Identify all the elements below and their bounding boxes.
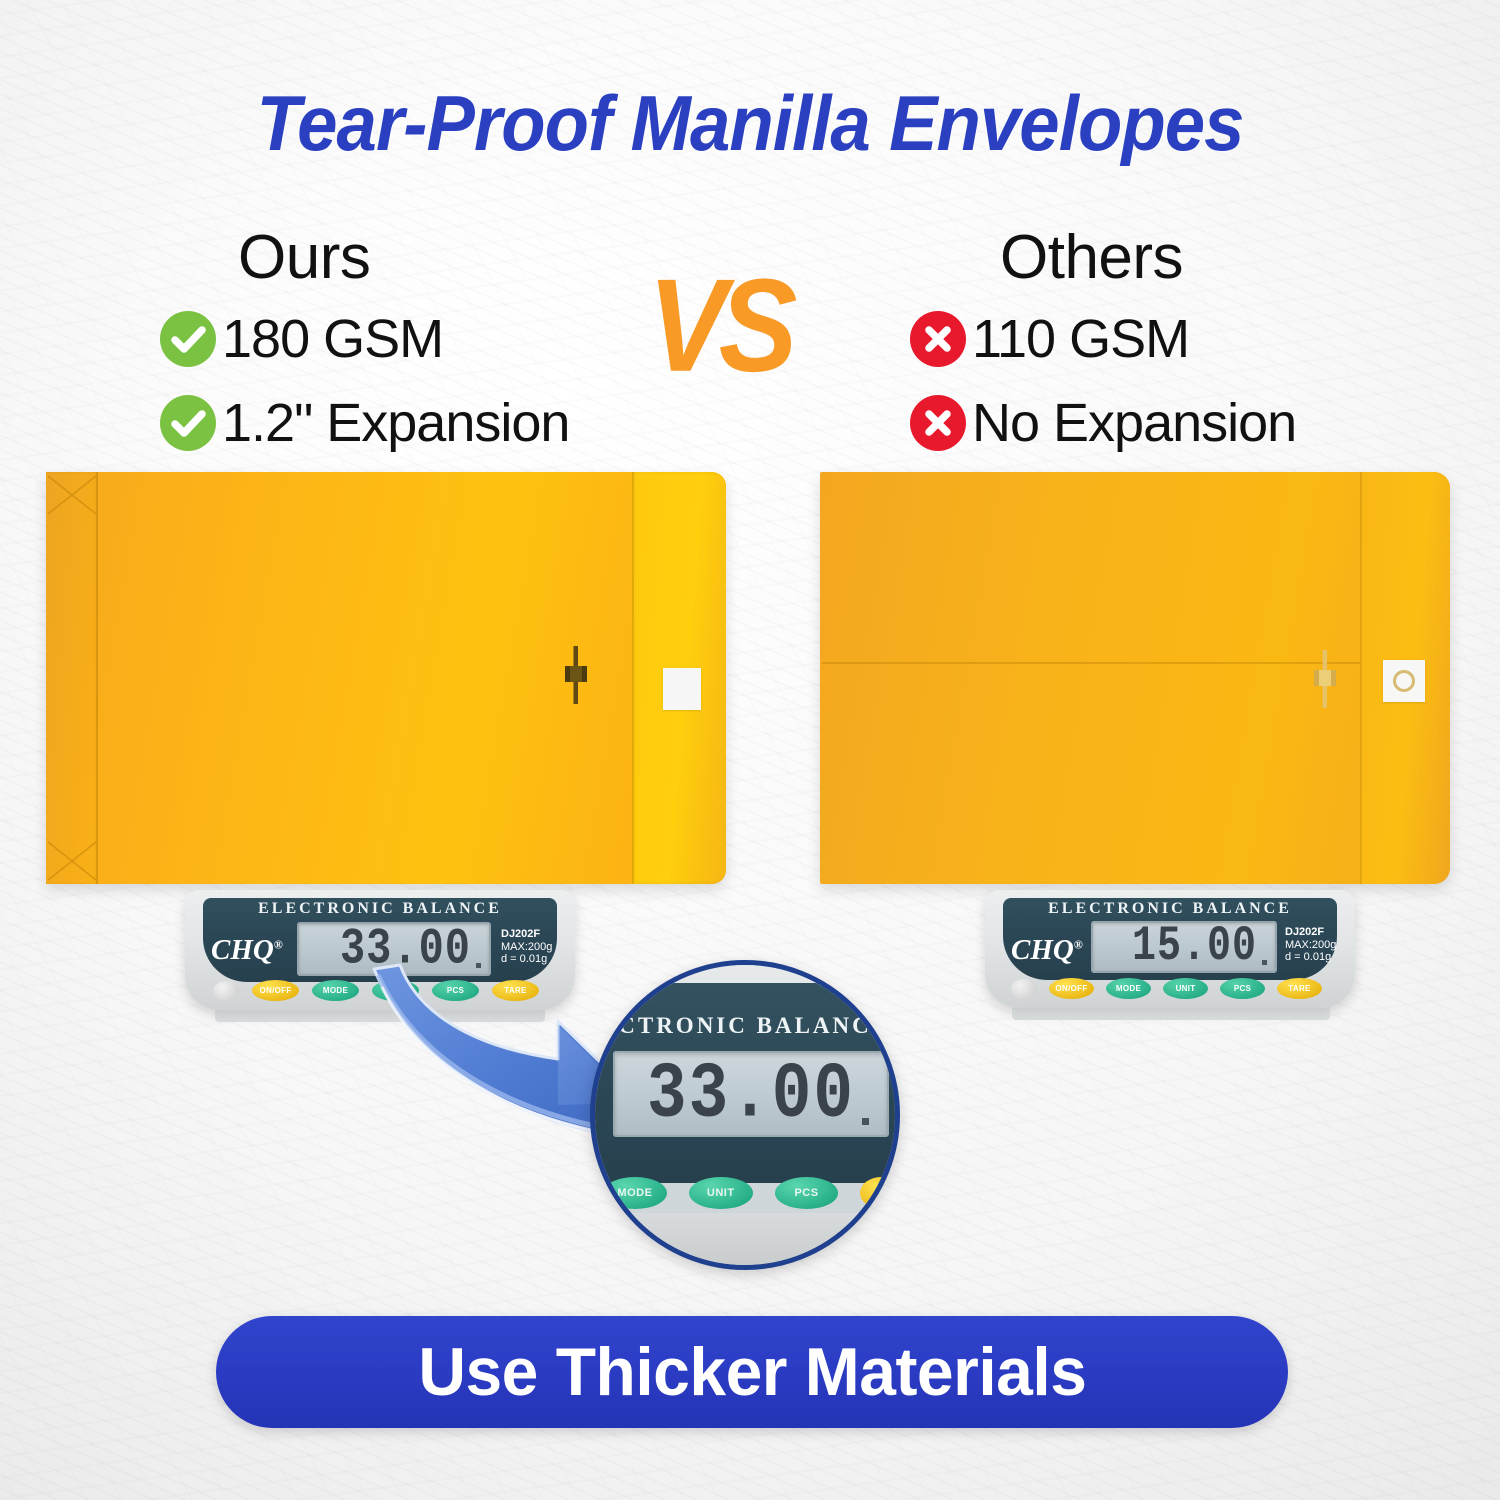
scale-brand-logo: CHQ® (211, 934, 283, 967)
scale-led-indicator-icon (213, 981, 239, 1001)
magnified-lcd-dot (862, 1118, 869, 1125)
feature-label: 1.2" Expansion (222, 392, 569, 454)
feature-label: 180 GSM (222, 308, 443, 370)
scale-key-onoff[interactable]: ON/OFF (252, 980, 299, 1001)
footer-banner: Use Thicker Materials (216, 1316, 1288, 1428)
footer-banner-text: Use Thicker Materials (418, 1333, 1086, 1411)
scale-model: DJ202F (1285, 926, 1336, 939)
scale-key-onoff[interactable]: ON/OFF (1049, 978, 1094, 999)
scale-brand-text: CHQ (211, 934, 274, 966)
envelope-expansion-gusset (46, 472, 98, 884)
envelope-eyelet-label-others (1383, 660, 1425, 702)
envelope-ours (46, 472, 726, 884)
magnified-housing-top (590, 965, 900, 985)
check-circle-icon (160, 395, 216, 451)
x-circle-icon (910, 395, 966, 451)
scale-others: ELECTRONIC BALANCE CHQ® 15.00 DJ202F MAX… (985, 890, 1355, 1008)
feature-row-ours-1: 180 GSM (160, 308, 443, 370)
scale-brandline: ELECTRONIC BALANCE (985, 900, 1355, 918)
lcd-indicator-dot (1262, 960, 1267, 965)
column-heading-others: Others (1000, 222, 1183, 293)
magnified-key-mode[interactable]: MODE (603, 1177, 667, 1209)
scale-spec-block: DJ202F MAX:200g d = 0.01g (1285, 926, 1336, 964)
envelope-seam-line (822, 662, 1362, 664)
gusset-crease-bottom-icon (46, 840, 98, 882)
envelope-clasp-ours-icon (563, 644, 589, 706)
scale-key-tare[interactable]: TARE (1277, 978, 1322, 999)
scale-brand-logo: CHQ® (1011, 934, 1083, 967)
scale-lcd-display-others: 15.00 (1091, 921, 1277, 973)
envelope-label-square-ours (663, 668, 701, 710)
magnified-brandline: ECTRONIC BALANCE (595, 1013, 895, 1039)
magnified-button-row: MODE UNIT PCS (603, 1177, 900, 1209)
envelope-fold-line (1360, 472, 1362, 884)
magnified-key-tare[interactable] (860, 1177, 900, 1209)
scale-model: DJ202F (501, 928, 552, 941)
magnifier-callout: ECTRONIC BALANCE 33.00 MODE UNIT PCS (590, 960, 900, 1270)
magnifier-content: ECTRONIC BALANCE 33.00 MODE UNIT PCS (595, 965, 895, 1265)
envelope-body (46, 472, 726, 884)
page-title: Tear-Proof Manilla Envelopes (53, 78, 1448, 169)
feature-label: No Expansion (972, 392, 1296, 454)
scale-key-pcs[interactable]: PCS (1220, 978, 1265, 999)
scale-button-row-others: ON/OFF MODE UNIT PCS TARE (1011, 978, 1333, 999)
vs-badge: VS (648, 250, 789, 402)
feature-row-ours-2: 1.2" Expansion (160, 392, 569, 454)
feature-row-others-2: No Expansion (910, 392, 1296, 454)
envelope-clasp-others-icon (1312, 648, 1338, 710)
eyelet-ring-icon (1393, 670, 1415, 692)
gusset-crease-top-icon (46, 474, 98, 516)
scale-max-capacity: MAX:200g (1285, 939, 1336, 952)
scale-max-capacity: MAX:200g (501, 941, 552, 954)
scale-brand-text: CHQ (1011, 934, 1074, 966)
scale-brandline: ELECTRONIC BALANCE (185, 900, 575, 918)
magnified-base (590, 1213, 900, 1270)
scale-key-unit[interactable]: UNIT (1163, 978, 1208, 999)
magnified-lcd-display: 33.00 (613, 1051, 889, 1137)
scale-key-mode[interactable]: MODE (1106, 978, 1151, 999)
x-circle-icon (910, 311, 966, 367)
scale-division: d = 0.01g (1285, 951, 1336, 964)
magnified-key-unit[interactable]: UNIT (689, 1177, 753, 1209)
column-heading-ours: Ours (238, 222, 370, 293)
envelope-fold-line (632, 472, 634, 884)
feature-label: 110 GSM (972, 308, 1189, 370)
scale-reading: 15.00 (1132, 920, 1275, 975)
feature-row-others-1: 110 GSM (910, 308, 1189, 370)
scale-led-indicator-icon (1011, 979, 1037, 999)
magnified-key-pcs[interactable]: PCS (775, 1177, 839, 1209)
check-circle-icon (160, 311, 216, 367)
gusset-edge-line (96, 472, 98, 884)
envelope-others (820, 472, 1450, 884)
envelope-body (820, 472, 1450, 884)
magnified-reading: 33.00 (647, 1049, 855, 1139)
infographic-canvas: Tear-Proof Manilla Envelopes Ours Others… (0, 0, 1500, 1500)
